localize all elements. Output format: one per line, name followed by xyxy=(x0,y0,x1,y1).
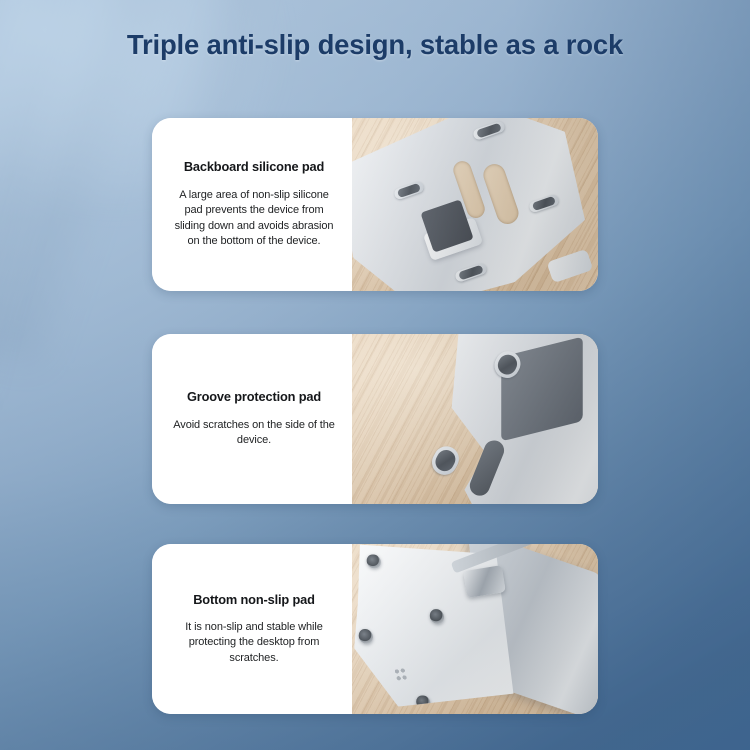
feature-card-list: Backboard silicone pad A large area of n… xyxy=(0,0,750,750)
feature-card-bottom-non-slip-pad: Bottom non-slip pad It is non-slip and s… xyxy=(152,544,598,714)
card-photo-bottom-non-slip-pad xyxy=(352,544,598,714)
bottom-non-slip-foot xyxy=(366,554,382,569)
card-heading: Backboard silicone pad xyxy=(184,159,324,174)
feature-card-backboard-silicone-pad: Backboard silicone pad A large area of n… xyxy=(152,118,598,291)
base-plate-dot-pattern xyxy=(393,667,408,682)
card-body-text: It is non-slip and stable while protecti… xyxy=(171,620,337,667)
card-heading: Groove protection pad xyxy=(187,389,321,404)
card-body-text: A large area of non-slip silicone pad pr… xyxy=(174,188,334,250)
card-photo-backboard-silicone-pad xyxy=(352,118,598,291)
page-title: Triple anti-slip design, stable as a roc… xyxy=(0,29,750,61)
bottom-non-slip-foot xyxy=(429,609,445,624)
card-text-block: Groove protection pad Avoid scratches on… xyxy=(152,334,352,504)
feature-card-groove-protection-pad: Groove protection pad Avoid scratches on… xyxy=(152,334,598,504)
card-heading: Bottom non-slip pad xyxy=(193,592,315,607)
bottom-non-slip-foot xyxy=(358,629,374,644)
card-text-block: Bottom non-slip pad It is non-slip and s… xyxy=(152,544,352,714)
card-photo-groove-protection-pad xyxy=(352,334,598,504)
card-body-text: Avoid scratches on the side of the devic… xyxy=(172,418,337,449)
card-text-block: Backboard silicone pad A large area of n… xyxy=(152,118,352,291)
